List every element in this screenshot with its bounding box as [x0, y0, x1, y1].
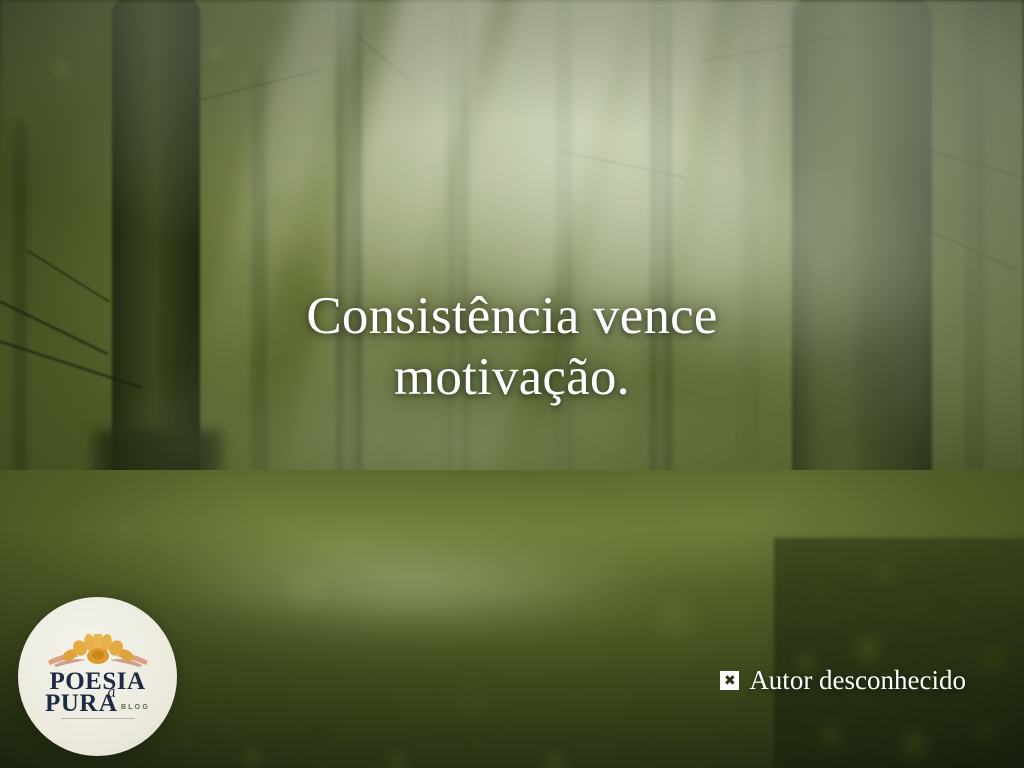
brand-logo-badge[interactable]: POESIA PUR A BLOG a	[18, 597, 177, 756]
quote-poster: Consistência vence motivação. ✖ Autor de…	[0, 0, 1024, 768]
quote-block: Consistência vence motivação.	[0, 286, 1024, 409]
brand-logo-inner: POESIA PUR A BLOG a	[44, 634, 152, 719]
quote-text: Consistência vence motivação.	[120, 286, 904, 409]
attribution-author: Autor desconhecido	[749, 667, 966, 694]
attribution: ✖ Autor desconhecido	[720, 667, 966, 694]
missing-glyph-box-icon: ✖	[720, 671, 739, 690]
brand-word-pur: PUR	[45, 691, 98, 716]
brand-wordmark: POESIA PUR A BLOG a	[44, 669, 152, 716]
brand-tagline-blog: BLOG	[121, 704, 150, 711]
sun-flower-icon	[46, 634, 150, 668]
brand-underline-rule	[61, 718, 135, 719]
brand-script-mark: a	[105, 684, 116, 700]
